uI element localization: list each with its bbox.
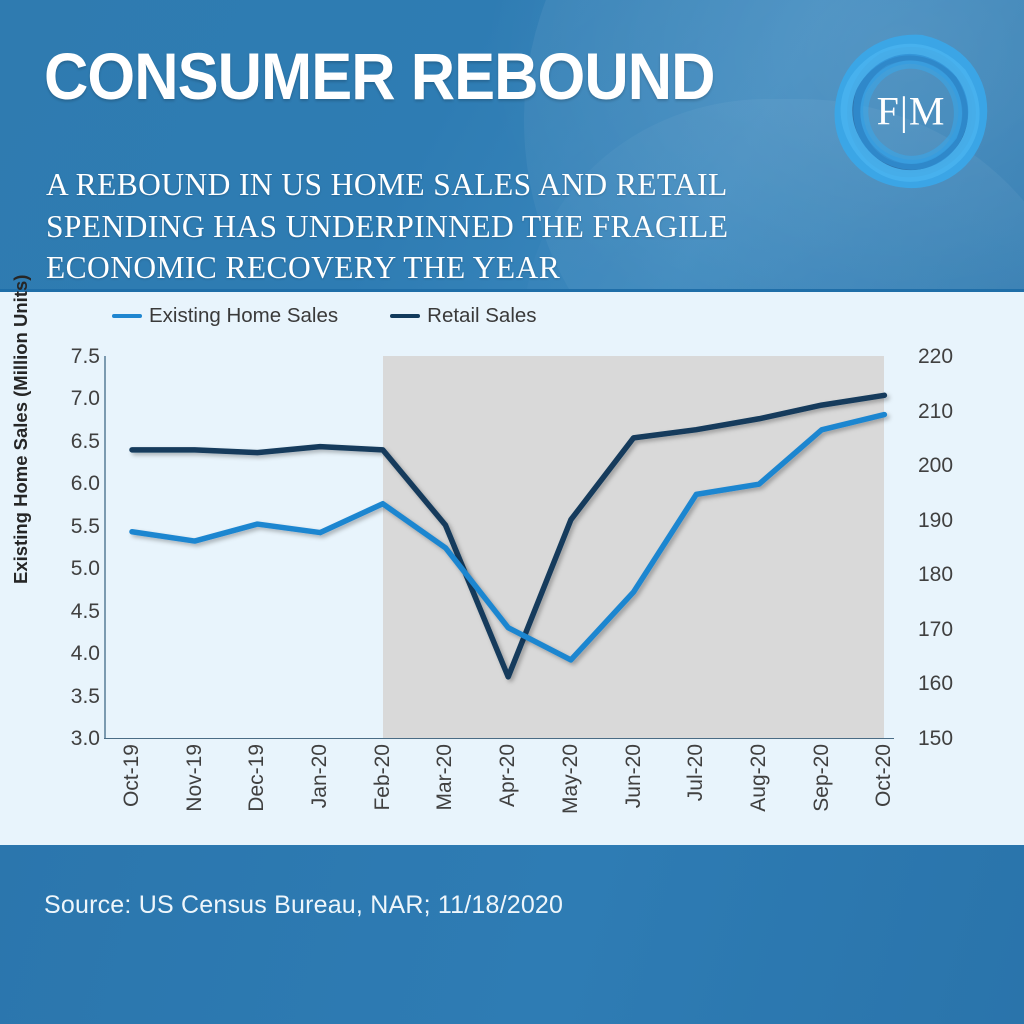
y-axis-left-ticks: 7.57.06.56.05.55.04.54.03.53.0: [38, 292, 100, 848]
legend-label-existing-home-sales: Existing Home Sales: [149, 304, 338, 328]
x-tick-jun-20: Jun-20: [622, 744, 646, 808]
y-tick-right: 180: [918, 564, 953, 585]
page-subtitle: A REBOUND IN US HOME SALES AND RETAIL SP…: [46, 164, 806, 289]
y-tick-left: 5.5: [71, 516, 100, 537]
x-tick-nov-19: Nov-19: [183, 744, 207, 812]
y-tick-left: 6.5: [71, 431, 100, 452]
y-axis-left-title: Existing Home Sales (Million Units): [10, 275, 32, 584]
y-tick-left: 6.0: [71, 473, 100, 494]
series-lines: [104, 356, 894, 738]
y-tick-right: 210: [918, 401, 953, 422]
y-tick-right: 200: [918, 455, 953, 476]
y-tick-right: 170: [918, 619, 953, 640]
x-tick-dec-19: Dec-19: [245, 744, 269, 812]
x-tick-jan-20: Jan-20: [308, 744, 332, 808]
footer-banner: Source: US Census Bureau, NAR; 11/18/202…: [0, 845, 1024, 1024]
x-tick-may-20: May-20: [559, 744, 583, 814]
y-tick-right: 150: [918, 728, 953, 749]
y-tick-left: 3.5: [71, 686, 100, 707]
x-tick-sep-20: Sep-20: [810, 744, 834, 812]
y-tick-right: 190: [918, 510, 953, 531]
legend-swatch-retail-sales: [390, 314, 420, 318]
x-tick-aug-20: Aug-20: [747, 744, 771, 812]
y-tick-left: 4.5: [71, 601, 100, 622]
x-tick-feb-20: Feb-20: [371, 744, 395, 811]
y-tick-right: 220: [918, 346, 953, 367]
line-retail-sales: [132, 395, 884, 677]
logo-monogram: F|M: [818, 88, 1004, 135]
y-tick-left: 3.0: [71, 728, 100, 749]
x-tick-oct-20: Oct-20: [872, 744, 896, 807]
y-tick-right: 160: [918, 673, 953, 694]
y-tick-left: 4.0: [71, 643, 100, 664]
x-tick-mar-20: Mar-20: [433, 744, 457, 811]
x-axis-ticks: Oct-19Nov-19Dec-19Jan-20Feb-20Mar-20Apr-…: [104, 744, 894, 844]
x-tick-jul-20: Jul-20: [684, 744, 708, 801]
y-axis-right-ticks: 220210200190180170160150: [918, 292, 988, 848]
y-tick-left: 7.5: [71, 346, 100, 367]
plot-area: [104, 356, 894, 738]
y-tick-left: 5.0: [71, 558, 100, 579]
brand-logo: F|M: [818, 22, 1004, 202]
source-citation: Source: US Census Bureau, NAR; 11/18/202…: [44, 891, 563, 920]
legend-swatch-existing-home-sales: [112, 314, 142, 318]
header-banner: CONSUMER REBOUND A REBOUND IN US HOME SA…: [0, 0, 1024, 289]
page-title: CONSUMER REBOUND: [44, 38, 715, 114]
chart-panel: Existing Home Sales Retail Sales Existin…: [0, 289, 1024, 845]
x-tick-oct-19: Oct-19: [120, 744, 144, 807]
x-tick-apr-20: Apr-20: [496, 744, 520, 807]
legend-item-existing-home-sales: Existing Home Sales: [112, 304, 338, 328]
chart-legend: Existing Home Sales Retail Sales: [112, 304, 537, 328]
legend-item-retail-sales: Retail Sales: [390, 304, 536, 328]
legend-label-retail-sales: Retail Sales: [427, 304, 536, 328]
y-tick-left: 7.0: [71, 388, 100, 409]
